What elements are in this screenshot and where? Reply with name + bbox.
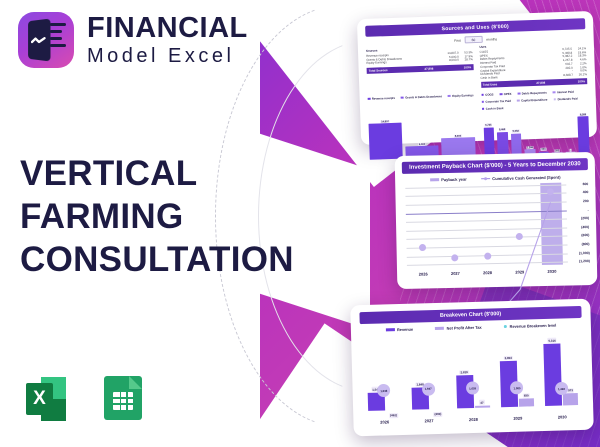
sources-total-row: Total Sources 27,808 100% — [367, 64, 474, 74]
legend-item: Cash in Bank — [482, 107, 504, 112]
uses-row-pct: 30.2% — [573, 73, 587, 76]
uses-row-value: 8,388.7 — [551, 74, 573, 77]
poster-canvas: FINANCIAL Model Excel VERTICAL FARMING C… — [0, 0, 600, 447]
sources-row-label: Equity Earnings — [366, 60, 437, 65]
y-axis-tick-label: 400 — [567, 190, 588, 194]
bar — [578, 117, 590, 153]
microsoft-excel-icon[interactable]: X — [24, 372, 74, 422]
y-axis-tick-label: 600 — [567, 182, 588, 186]
legend-item: Interest Paid — [553, 90, 574, 95]
legend-item: Grants & Debts Drawdowns — [401, 95, 442, 100]
bar-column: 5,082 — [510, 130, 521, 156]
data-point — [515, 233, 522, 240]
legend-payback-year: Payback year — [430, 176, 467, 182]
data-point — [451, 254, 458, 261]
logo-list-lines — [50, 23, 66, 57]
legend-item: Capital Expenditure — [517, 98, 548, 103]
y-axis-tick-label: 200 — [568, 199, 589, 203]
document-chart-icon — [18, 12, 74, 68]
uses-total-value: 27,808 — [523, 81, 545, 86]
logo-wave-glyph — [31, 37, 46, 44]
sources-chart-legend: Revenue receiptsGrants & Debts Drawdowns… — [368, 94, 475, 102]
brand-wordmark: FINANCIAL Model Excel — [87, 14, 248, 66]
uses-total-label: Total Uses — [483, 83, 498, 88]
legend-item: OPEX — [499, 92, 511, 96]
google-sheets-icon[interactable] — [100, 372, 146, 422]
payback-plot-area: 600400200-(200)(400)(600)(800)(1,000)(1,… — [405, 182, 568, 267]
breakeven-title: Breakeven Chart ($'000) — [359, 306, 581, 324]
sources-total-pct: 100% — [457, 65, 471, 69]
period-value[interactable]: 60 — [465, 36, 483, 44]
uses-table: Uses COGS6,725.524.1%OPEX5,468.819.6%Deb… — [479, 41, 587, 88]
sources-row-value: 8,000.0 — [437, 59, 459, 62]
legend-item: Equity Earnings — [448, 94, 474, 99]
brand-line-2: Model Excel — [87, 46, 248, 66]
payback-title: Investment Payback Chart ($'000) - 5 Yea… — [402, 158, 588, 174]
bar — [483, 127, 495, 156]
data-point — [547, 189, 554, 196]
bar-column: 6,725 — [483, 124, 495, 157]
y-axis-tick-label: (200) — [568, 216, 589, 220]
headline-line-2: FARMING — [20, 195, 320, 238]
brand-logo: FINANCIAL Model Excel — [18, 12, 248, 68]
sources-and-uses-card[interactable]: Sources and Uses ($'000) First 60 months… — [357, 11, 597, 145]
bar — [369, 123, 403, 160]
sources-uses-tables: Sources Revenue receipts14,807.053.3%Gra… — [366, 41, 587, 92]
investment-payback-card[interactable]: Investment Payback Chart ($'000) - 5 Yea… — [395, 152, 598, 289]
sheets-grid-glyph — [113, 392, 133, 410]
y-axis-tick-label: (400) — [568, 225, 589, 229]
headline-line-1: VERTICAL — [20, 152, 320, 195]
y-axis-tick-label: (1,200) — [569, 259, 590, 263]
excel-x-glyph: X — [26, 383, 53, 415]
legend-revenue: Revenue — [385, 326, 413, 332]
bar-column: 8,389 — [578, 113, 590, 153]
sources-total-label: Total Sources — [369, 68, 388, 73]
y-axis-tick-label: (1,000) — [569, 251, 590, 255]
uses-row-label: Cash in Bank — [480, 75, 551, 80]
y-axis-tick-label: (800) — [568, 242, 589, 246]
uses-bar-chart: 6,7255,4695,0821,268603282-8,389 — [483, 111, 590, 157]
bar-column: 5,469 — [497, 128, 508, 155]
legend-cumulative-cash: Cumulative Cash Generated (Spent) — [481, 174, 561, 181]
uses-row-value: 282.0 — [551, 66, 573, 69]
page-title: VERTICAL FARMING CONSULTATION — [20, 152, 320, 281]
legend-npat: Net Profit After Tax — [435, 324, 482, 330]
bar-column: 14,807 — [368, 120, 403, 161]
sources-table: Sources Revenue receipts14,807.053.3%Gra… — [366, 45, 474, 92]
sources-bar-chart: 14,8075,0008,000 — [368, 115, 475, 161]
legend-breakeven-level: Revenue Breakeven level — [504, 322, 557, 328]
legend-item: Revenue receipts — [368, 96, 395, 101]
y-axis-tick-label: (600) — [568, 233, 589, 237]
payback-legend: Payback year Cumulative Cash Generated (… — [402, 174, 588, 183]
legend-item: Dividends Paid — [553, 97, 577, 102]
sources-row-pct: 28.7% — [459, 58, 473, 61]
period-label-right: months — [486, 37, 497, 41]
legend-item: Corporate Tax Paid — [481, 99, 511, 104]
y-axis-tick-label: - — [568, 208, 589, 212]
period-label-left: First — [454, 38, 461, 42]
breakeven-plot-area: 1,540(462)1,848(290)2,819473,9046505,316… — [360, 329, 584, 411]
file-format-icons: X — [24, 372, 146, 422]
headline-line-3: CONSULTATION — [20, 238, 320, 281]
uses-chart-legend: COGSOPEXDebts RepaymentsInterest PaidCor… — [481, 90, 588, 112]
bar-value-label: 6,725 — [485, 124, 492, 127]
brand-line-1: FINANCIAL — [87, 14, 248, 43]
bar — [511, 133, 522, 155]
uses-total-pct: 100% — [571, 80, 585, 84]
legend-item: Debts Repayments — [517, 91, 546, 96]
breakeven-card[interactable]: Breakeven Chart ($'000) Revenue Net Prof… — [350, 299, 594, 437]
bar — [497, 132, 508, 156]
data-point — [419, 244, 426, 251]
sources-total-value: 27,808 — [411, 66, 433, 71]
bar-value-label: 5,082 — [512, 130, 519, 133]
legend-item: COGS — [481, 93, 494, 97]
